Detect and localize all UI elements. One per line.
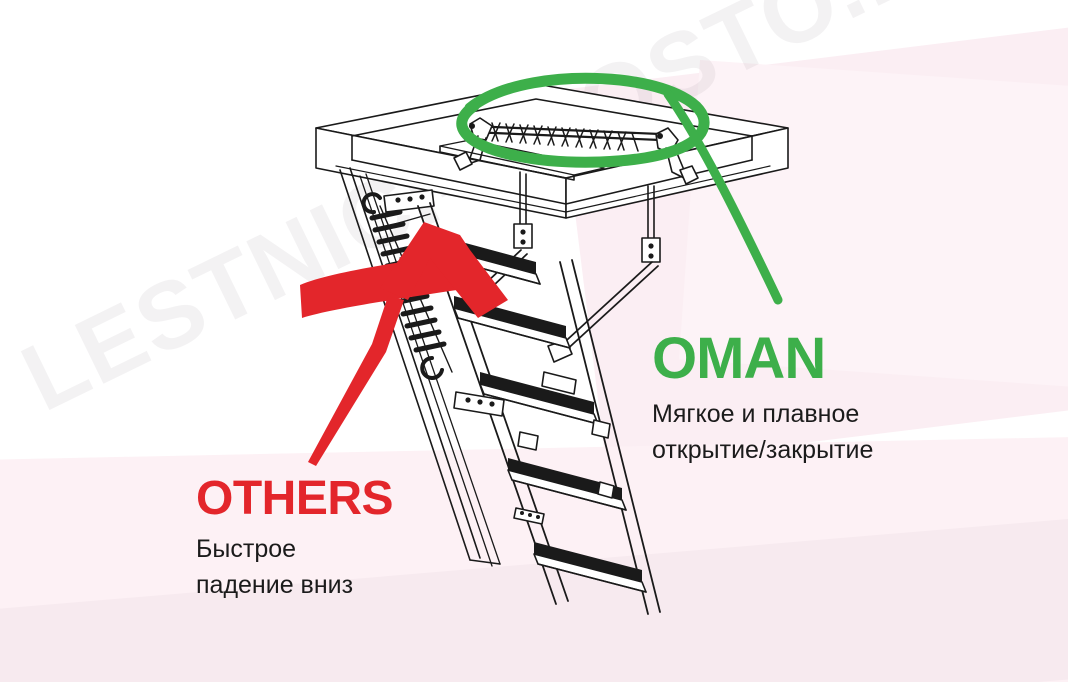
- others-title: OTHERS: [196, 475, 526, 523]
- others-subtitle-line1: Быстрое: [196, 531, 526, 567]
- callout-others: OTHERS Быстрое падение вниз: [196, 475, 526, 604]
- ladder-step: [534, 542, 646, 592]
- others-subtitle-line2: падение вниз: [196, 567, 526, 603]
- oman-subtitle: Мягкое и плавное открытие/закрытие: [652, 396, 992, 469]
- ladder-step: [480, 372, 598, 424]
- infographic-canvas: LESTNICI-PROSTO.RU: [0, 0, 1068, 682]
- oman-title: OMAN: [652, 330, 992, 388]
- oman-subtitle-line1: Мягкое и плавное: [652, 396, 992, 432]
- oman-subtitle-line2: открытие/закрытие: [652, 432, 992, 468]
- others-subtitle: Быстрое падение вниз: [196, 531, 526, 604]
- callout-oman: OMAN Мягкое и плавное открытие/закрытие: [652, 330, 992, 469]
- red-arrow-tail: [308, 296, 404, 466]
